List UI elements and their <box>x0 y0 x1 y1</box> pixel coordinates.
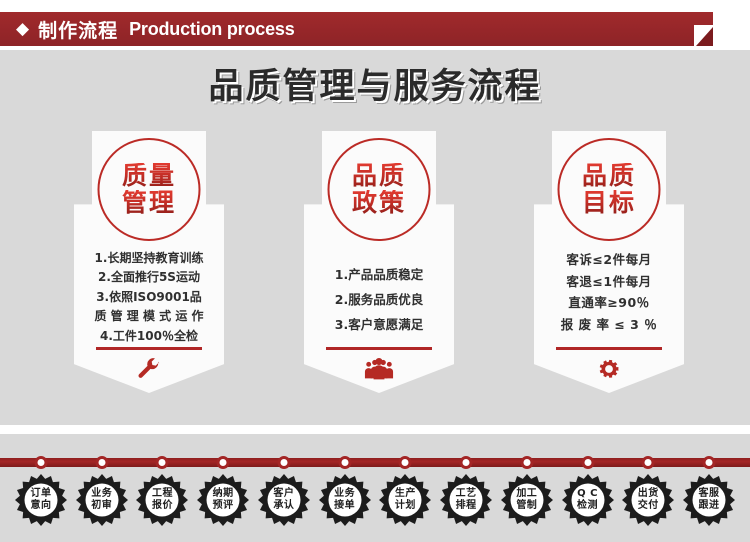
flow-step-line-2: 跟进 <box>699 500 720 512</box>
flow-node-dot <box>581 456 594 469</box>
flow-step-line-1: 订单 <box>31 488 52 500</box>
panel-list: 1.产品品质稳定 2.服务品质优良 3.客户意愿满足 <box>304 262 454 337</box>
flow-step-label: 加工管制 <box>500 473 554 527</box>
flow-step-line-1: 业务 <box>91 488 112 500</box>
wrench-icon <box>74 357 224 383</box>
list-item: 客退≤1件每月 <box>541 271 677 293</box>
flow-step-line-2: 管制 <box>516 500 537 512</box>
flow-step-label: 订单意向 <box>14 473 68 527</box>
flow-node-dot <box>399 456 412 469</box>
list-item: 报 废 率 ≤ 3 ％ <box>541 314 677 336</box>
quality-management-panel: 质量 管理 1.长期坚持教育训练 2.全面推行5S运动 3.依照ISO9001品… <box>74 131 224 393</box>
flow-step-line-2: 接单 <box>334 500 355 512</box>
list-item: 1.产品品质稳定 <box>311 262 447 287</box>
flow-step-badge[interactable]: 加工管制 <box>500 473 554 527</box>
header-bar: ◆ 制作流程 Production process <box>0 12 713 46</box>
circle-line-2: 目标 <box>582 190 636 217</box>
header-fold-corner <box>694 25 713 46</box>
page-root: ◆ 制作流程 Production process 品质管理与服务流程 质量 管… <box>0 0 750 542</box>
flow-step-badge[interactable]: 订单意向 <box>14 473 68 527</box>
flow-node-dot <box>277 456 290 469</box>
quality-policy-panel: 品质 政策 1.产品品质稳定 2.服务品质优良 3.客户意愿满足 <box>304 131 454 393</box>
panel-circle-badge: 品质 目标 <box>558 138 661 241</box>
list-item: 客诉≤2件每月 <box>541 249 677 271</box>
flow-step-line-2: 预评 <box>213 500 234 512</box>
flow-step-badge[interactable]: 工程报价 <box>135 473 189 527</box>
panel-divider <box>326 347 432 350</box>
header-title-cn: 制作流程 <box>38 16 118 43</box>
flow-node-dot <box>338 456 351 469</box>
flow-node-dot <box>95 456 108 469</box>
flow-step-line-1: 纳期 <box>213 488 234 500</box>
flow-step-line-1: 业务 <box>334 488 355 500</box>
flow-node-dot <box>156 456 169 469</box>
flow-step-badge[interactable]: 出货交付 <box>621 473 675 527</box>
list-item: 3.依照ISO9001品 <box>81 288 217 307</box>
list-item: 直通率≥90％ <box>541 292 677 314</box>
flow-step-label: 出货交付 <box>621 473 675 527</box>
circle-line-1: 质量 <box>122 163 176 190</box>
flow-step-line-1: Q C <box>577 488 598 500</box>
diamond-icon: ◆ <box>16 20 29 37</box>
panel-divider <box>556 347 662 350</box>
flow-step-line-1: 出货 <box>638 488 659 500</box>
flow-step-line-2: 承认 <box>273 500 294 512</box>
header-title-en: Production process <box>129 19 294 40</box>
flow-step-line-1: 工艺 <box>456 488 477 500</box>
flow-step-label: 纳期预评 <box>196 473 250 527</box>
flow-node-dot <box>520 456 533 469</box>
flow-step-badge[interactable]: 业务初审 <box>75 473 129 527</box>
quality-goal-panel: 品质 目标 客诉≤2件每月 客退≤1件每月 直通率≥90％ 报 废 率 ≤ 3 … <box>534 131 684 393</box>
flow-step-badge[interactable]: Q C检测 <box>561 473 615 527</box>
flow-step-label: 业务初审 <box>75 473 129 527</box>
panel-circle-badge: 品质 政策 <box>328 138 431 241</box>
list-item: 2.全面推行5S运动 <box>81 268 217 287</box>
flow-step-badge[interactable]: 客服跟进 <box>682 473 736 527</box>
flow-node-dot <box>460 456 473 469</box>
people-group-icon <box>304 357 454 381</box>
flow-step-line-1: 生产 <box>395 488 416 500</box>
flow-node-dot <box>703 456 716 469</box>
flow-step-badge[interactable]: 工艺排程 <box>439 473 493 527</box>
list-item: 4.工件100％全检 <box>81 327 217 346</box>
flow-rail <box>0 458 750 467</box>
list-item: 3.客户意愿满足 <box>311 312 447 337</box>
flow-step-label: 生产计划 <box>378 473 432 527</box>
flow-step-label: Q C检测 <box>561 473 615 527</box>
gear-icon <box>534 357 684 381</box>
circle-line-1: 品质 <box>352 163 406 190</box>
flow-step-line-2: 计划 <box>395 500 416 512</box>
flow-step-label: 工艺排程 <box>439 473 493 527</box>
panel-divider <box>96 347 202 350</box>
list-item: 2.服务品质优良 <box>311 287 447 312</box>
flow-step-label: 业务接单 <box>318 473 372 527</box>
circle-line-2: 管理 <box>122 190 176 217</box>
list-item: 1.长期坚持教育训练 <box>81 249 217 268</box>
flow-step-line-1: 工程 <box>152 488 173 500</box>
flow-step-badge[interactable]: 生产计划 <box>378 473 432 527</box>
flow-step-label: 客服跟进 <box>682 473 736 527</box>
flow-step-line-2: 排程 <box>456 500 477 512</box>
flow-step-badge[interactable]: 纳期预评 <box>196 473 250 527</box>
flow-step-label: 工程报价 <box>135 473 189 527</box>
list-item: 质 管 理 模 式 运 作 <box>81 307 217 326</box>
flow-node-dot <box>217 456 230 469</box>
page-title: 品质管理与服务流程 <box>0 58 750 109</box>
flow-step-line-2: 意向 <box>31 500 52 512</box>
flow-step-line-2: 初审 <box>91 500 112 512</box>
flow-step-line-1: 客服 <box>699 488 720 500</box>
flow-step-line-1: 客户 <box>273 488 294 500</box>
flow-step-badge[interactable]: 客户承认 <box>257 473 311 527</box>
flow-step-line-2: 交付 <box>638 500 659 512</box>
flow-step-line-2: 检测 <box>577 500 598 512</box>
circle-line-1: 品质 <box>582 163 636 190</box>
flow-step-label: 客户承认 <box>257 473 311 527</box>
circle-line-2: 政策 <box>352 190 406 217</box>
flow-step-line-1: 加工 <box>516 488 537 500</box>
panel-list: 1.长期坚持教育训练 2.全面推行5S运动 3.依照ISO9001品 质 管 理… <box>74 249 224 346</box>
panel-circle-badge: 质量 管理 <box>98 138 201 241</box>
flow-step-badge[interactable]: 业务接单 <box>318 473 372 527</box>
panel-list: 客诉≤2件每月 客退≤1件每月 直通率≥90％ 报 废 率 ≤ 3 ％ <box>534 249 684 335</box>
flow-step-line-2: 报价 <box>152 500 173 512</box>
flow-node-dot <box>35 456 48 469</box>
flow-node-dot <box>642 456 655 469</box>
